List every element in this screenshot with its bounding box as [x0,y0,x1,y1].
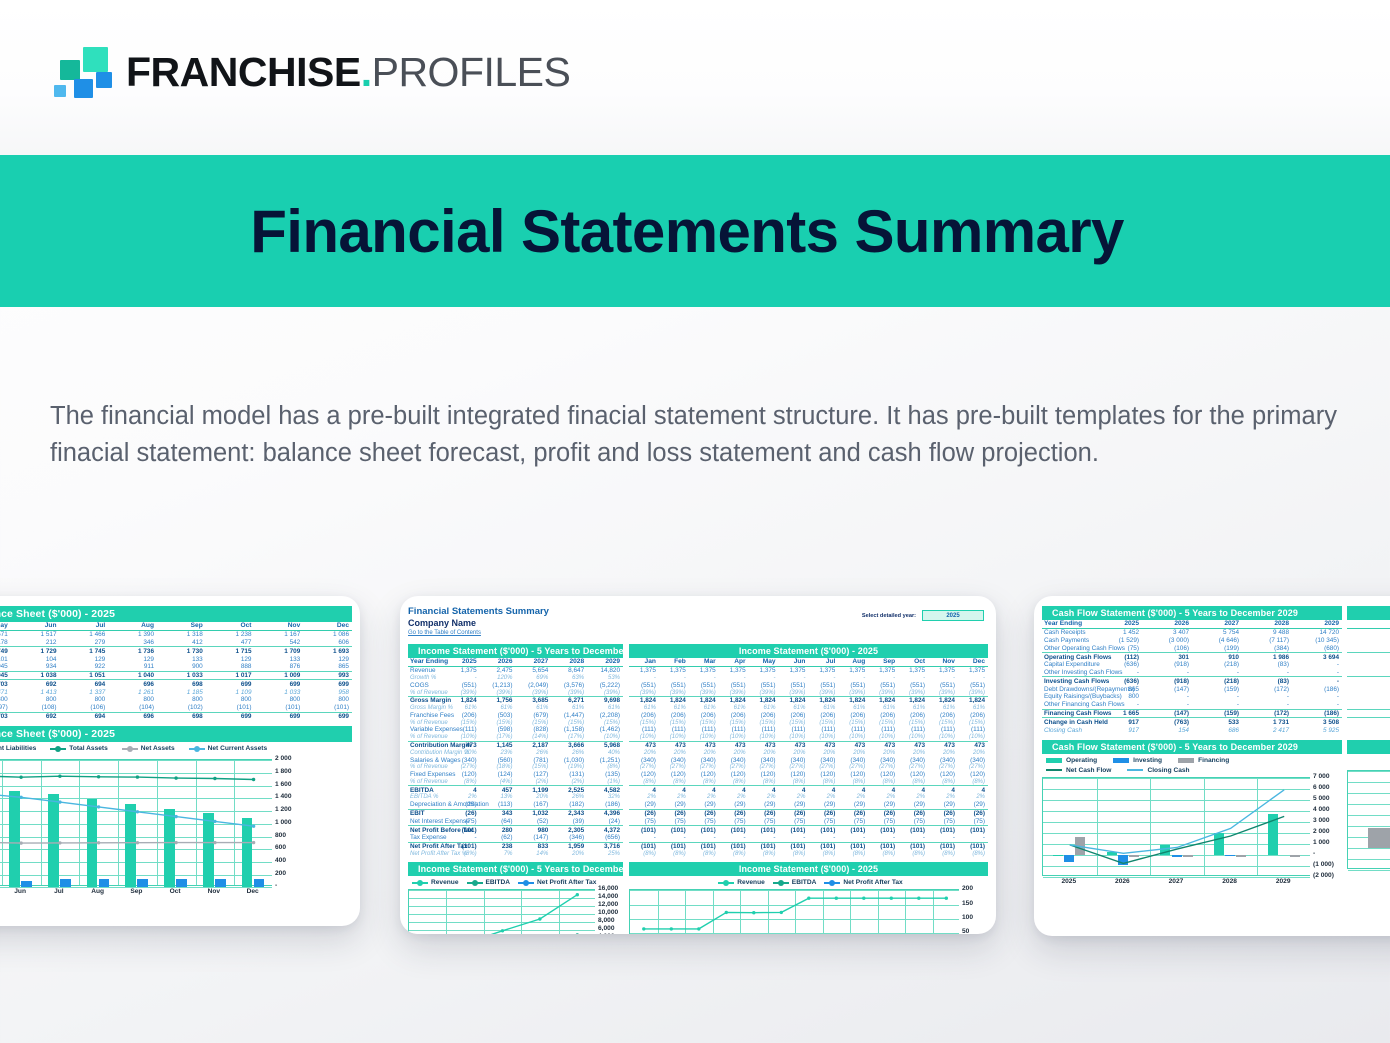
table-cell: 1,824 [958,696,988,704]
table-cell: (8%) [749,851,779,858]
table-cell: 692 [11,680,60,688]
table-cell: 61% [551,705,587,712]
table-cell: (101) [719,826,749,834]
table-cell: 4 [808,786,838,794]
table-row: 1,3751,3751,3751,3751,3751,3751,3751,375… [629,666,988,674]
table-row: EBITDA %2%13%20%26%32% [408,794,623,801]
table-cell: 686 [1192,726,1242,734]
table-cell: (8%) [838,779,868,786]
y-axis-tick: 200 [962,885,981,892]
table-cell: (39%) [868,689,898,696]
table-cell: (106) [60,704,109,712]
table-cell: 61% [808,705,838,712]
table-cell: 1 261 [108,688,157,696]
table-row: 800 [1347,693,1390,701]
table-row: EBIT(26)3431,0322,3434,396 [408,809,623,817]
table-cell: (340) [898,756,928,764]
table-cell: Mar [689,658,719,666]
select-detailed-year-input[interactable]: 2025 [922,610,984,621]
table-cell: 473 [958,741,988,749]
table-cell: (111) [868,726,898,734]
table-cell: Net Profit Before Tax [408,826,444,834]
table-row: (39%)(39%)(39%)(39%)(39%)(39%)(39%)(39%)… [629,689,988,696]
table-row: (8%)(8%)(8%)(8%)(8%)(8%)(8%)(8%)(8%)(8%)… [629,779,988,786]
plot-area [1347,770,1390,869]
table-cell: (679) [515,711,551,719]
table-cell: 1,824 [629,696,659,704]
table-cell: (39%) [689,689,719,696]
table-cell: (8%) [587,764,623,771]
table-of-contents-link[interactable]: Go to the Table of Contents [408,630,988,636]
table-cell: 457 [480,786,516,794]
y-axis-tick: (2 000) [1313,872,1342,879]
table-cell: (27%) [928,764,958,771]
table-cell: (39%) [515,689,551,696]
table-cell: (106) [1142,644,1192,652]
table-cell: 40% [587,749,623,756]
table-cell: (27%) [629,764,659,771]
table-cell: 2 417 [1242,726,1292,734]
table-cell: 2,475 [480,666,516,674]
table-cell: 1,375 [898,666,928,674]
table-cell: (26) [898,809,928,817]
table-cell: - [898,834,928,842]
table-cell: 20% [749,749,779,756]
table-cell: (2%) [515,779,551,786]
table-cell: (551) [808,681,838,689]
chart-lines [409,890,596,934]
table-cell: (39%) [808,689,838,696]
table-cell: (8%) [719,779,749,786]
y-axis-tick: - [1313,850,1342,857]
legend-swatch [412,882,428,884]
table-cell: (127) [515,771,551,779]
table-row: % of Revenue(10%)(17%)(14%)(17%)(10%) [408,734,623,741]
table-cell: 343 [480,809,516,817]
table-cell: 14 720 [1292,628,1342,636]
table-cell: - [659,834,689,842]
table-cell: (8%) [898,779,928,786]
table-cell: (101) [749,842,779,850]
table-row: MayJunJulAugSepOctNovDec [0,622,352,630]
table-cell: 696 [108,680,157,688]
table-cell: Debt Drawdowns/(Repayments) [1042,685,1092,693]
table-cell: (75) [689,817,719,825]
table-cell: - [1347,701,1390,709]
table-cell: (111) [689,726,719,734]
table-cell: 1 337 [60,688,109,696]
table-cell: Nov [928,658,958,666]
table-cell: Capital Expenditure [1042,661,1092,669]
balance-sheet-screenshot-card[interactable]: Balance Sheet ($'000) - 2025 MayJunJulAu… [0,596,360,926]
table-cell: (124) [480,771,516,779]
table-cell: 1,824 [779,696,809,704]
table-cell: Variable Expenses [408,726,444,734]
cash-flow-month-chart-title [1347,740,1390,754]
table-cell: 61% [689,705,719,712]
table-cell: 699 [206,680,255,688]
table-cell: Financing Cash Flows [1042,709,1092,718]
table-cell: 1 185 [157,688,206,696]
table-cell: (120) [958,771,988,779]
y-axis-tick: 2 000 [1313,828,1342,835]
table-cell: 1 033 [255,688,304,696]
income-statement-5yr-block: Income Statement ($'000) - 5 Years to De… [408,644,623,857]
x-axis-tick: 2027 [1149,878,1203,885]
table-cell: Change in Cash Held [1042,718,1092,726]
table-cell: 1 729 [11,647,60,655]
table-cell: (1,251) [587,756,623,764]
table-cell: (206) [659,711,689,719]
table-row: 1 5711 5171 4661 3901 3181 2381 1671 086 [0,630,352,638]
table-row: (47) [1347,637,1390,645]
income-chart-year-block: Income Statement ($'000) - 2025 RevenueE… [629,862,988,934]
table-cell: 2% [868,794,898,801]
table-cell: 800 [1347,693,1390,701]
table-row: Net Profit After Tax(101)2388331,9593,71… [408,842,623,850]
table-cell: (15%) [749,719,779,726]
table-cell: 692 [11,712,60,720]
table-cell: (15%) [838,719,868,726]
table-cell: (218) [1192,661,1242,669]
table-cell: (7) [1347,644,1390,652]
table-cell: 473 [779,741,809,749]
cash-flow-month-table: Jan32(47)(7)(22)(36)-(36)989800-1 7891 7… [1347,620,1390,734]
table-cell: 1,375 [659,666,689,674]
table-cell: (101) [928,842,958,850]
table-row: Investing Cash Flows(636)(918)(218)(83)- [1042,677,1342,685]
table-cell: (680) [1292,644,1342,652]
table-cell: Depreciation & Amortisation [408,801,444,809]
table-cell: (206) [838,711,868,719]
table-cell: Gross Margin % [408,705,444,712]
table-cell: (120) [808,771,838,779]
cash-flow-screenshot-card[interactable]: Cash Flow Statement ($'000) - 5 Years to… [1034,596,1390,936]
table-cell: (26) [719,809,749,817]
table-cell: 5,654 [515,666,551,674]
table-cell: (10%) [749,734,779,741]
table-cell: 1,375 [689,666,719,674]
y-axis-tick: 3 000 [1313,817,1342,824]
table-cell: 698 [157,680,206,688]
table-cell: 2025 [1092,620,1142,628]
table-cell: 20% [659,749,689,756]
table-cell: (17%) [551,734,587,741]
table-cell: (27%) [689,764,719,771]
table-cell: 26% [515,749,551,756]
table-cell: 699 [303,680,352,688]
table-cell: 101 [0,655,11,663]
table-cell: - [779,834,809,842]
table-row: 1 789 [1347,709,1390,718]
table-row: (111)(111)(111)(111)(111)(111)(111)(111)… [629,726,988,734]
table-cell: (7 117) [1242,637,1292,645]
x-axis-tick: 2025 [1042,878,1096,885]
y-axis-tick: 10,000 [598,909,621,916]
table-cell: (340) [928,756,958,764]
table-cell: (551) [749,681,779,689]
table-cell: 699 [255,680,304,688]
table-cell: 4 [749,786,779,794]
table-cell: (75) [779,817,809,825]
select-detailed-year-label: Select detailed year: [862,613,916,619]
table-cell: 1 715 [206,647,255,655]
table-cell: (8%) [629,851,659,858]
table-row: (26)(26)(26)(26)(26)(26)(26)(26)(26)(26)… [629,809,988,817]
table-cell: 61% [779,705,809,712]
table-cell: 3,666 [551,741,587,749]
table-cell: 1 471 [0,688,11,696]
table-cell: (8%) [898,851,928,858]
table-row: (120)(120)(120)(120)(120)(120)(120)(120)… [629,771,988,779]
table-row: Net Profit Before Tax(101)2809802,3054,3… [408,826,623,834]
table-cell: 4 [898,786,928,794]
table-cell: (29) [659,801,689,809]
balance-sheet-chart: 2 0001 8001 6001 4001 2001 0008006004002… [0,759,352,899]
table-cell: (52) [515,817,551,825]
table-cell: (8%) [808,779,838,786]
table-cell: 1 731 [1347,718,1390,726]
table-cell: Jun [11,622,60,630]
table-cell: 1,824 [689,696,719,704]
table-cell: (15%) [659,719,689,726]
legend-swatch [122,748,138,750]
table-cell: (206) [719,711,749,719]
table-cell: 1 086 [303,630,352,638]
legend-item: urrent Liabilities [0,745,36,752]
table-cell: (83) [1242,661,1292,669]
table-cell: - [444,834,480,842]
table-cell: - [689,675,719,682]
table-cell: (10%) [808,734,838,741]
table-row: ------------ [629,675,988,682]
table-cell: EBIT [408,809,444,817]
table-cell: - [1242,693,1292,701]
table-cell: 61% [719,705,749,712]
table-cell: 900 [157,663,206,671]
select-detailed-year-control[interactable]: Select detailed year: 2025 [862,610,984,621]
table-cell: (2%) [551,779,587,786]
table-cell: (15%) [779,719,809,726]
table-cell: (26) [958,809,988,817]
table-cell: 4 [444,786,480,794]
table-cell: 2% [928,794,958,801]
y-axis-tick: 6,000 [598,925,621,932]
table-cell: (29) [898,801,928,809]
financial-summary-screenshot-card[interactable]: Financial Statements Summary Company Nam… [400,596,996,934]
legend-item: EBITDA [773,879,817,886]
y-axis-tick: 7 000 [1313,773,1342,780]
table-cell: EBITDA % [408,794,444,801]
table-cell: 32 [1347,628,1390,636]
table-cell: 696 [108,712,157,720]
income-statement-5yr-title: Income Statement ($'000) - 5 Years to De… [408,644,623,658]
table-cell: 2025 [444,658,480,666]
table-cell: (159) [1192,709,1242,718]
table-cell: 25% [587,851,623,858]
table-cell: 3 508 [1292,718,1342,726]
cash-flow-month-chart: Jan [1347,770,1390,882]
table-cell: (15%) [808,719,838,726]
table-cell: - [749,675,779,682]
table-cell: 129 [108,655,157,663]
table-row: % of Revenue(8%)(4%)(2%)(2%)(1%) [408,779,623,786]
table-cell: (2,049) [515,681,551,689]
table-row: % of Revenue(27%)(18%)(15%)(19%)(8%) [408,764,623,771]
table-cell: (75) [898,817,928,825]
legend-swatch [50,748,66,750]
table-cell: (10%) [779,734,809,741]
table-cell: (75) [749,817,779,825]
table-cell: 279 [60,639,109,647]
table-cell: (22) [1347,653,1390,661]
table-cell: (27%) [659,764,689,771]
table-cell: (8%) [779,779,809,786]
table-row: Other Financing Cash Flows----- [1042,701,1342,709]
y-axis-tick: 400 [275,857,306,864]
table-cell: 32% [587,794,623,801]
y-axis-tick: 100 [962,914,981,921]
table-cell: 4,396 [587,809,623,817]
y-axis-tick: 1 000 [1313,839,1342,846]
table-cell: (27%) [749,764,779,771]
cash-flow-chart-title: Cash Flow Statement ($'000) - 5 Years to… [1042,740,1342,754]
table-cell: (101) [689,842,719,850]
table-cell: (551) [838,681,868,689]
table-cell: (101) [779,842,809,850]
table-cell: (101) [629,826,659,834]
table-cell: (101) [808,826,838,834]
table-cell: - [689,834,719,842]
table-cell: (656) [587,834,623,842]
table-cell: (340) [629,756,659,764]
table-cell: 2,305 [551,826,587,834]
table-cell: (39%) [587,689,623,696]
legend-label: Revenue [737,879,765,886]
table-cell: (120) [838,771,868,779]
table-cell: 3,685 [515,696,551,704]
table-cell: (186) [1292,709,1342,718]
table-cell: Contribution Margin % [408,749,444,756]
table-cell: (111) [808,726,838,734]
table-cell: 800 [0,696,11,704]
table-cell: 212 [11,639,60,647]
x-axis-tick: 2026 [1096,878,1150,885]
table-cell: (29) [719,801,749,809]
table-cell: 1 109 [206,688,255,696]
cash-flow-month-title [1347,606,1390,620]
table-cell: Oct [206,622,255,630]
table-cell: (340) [659,756,689,764]
table-cell: (15%) [480,719,516,726]
table-cell: (101) [928,826,958,834]
table-cell: 61% [480,705,516,712]
table-cell: (101) [629,842,659,850]
plot-area [408,889,595,934]
table-row: Capital Expenditure(636)(918)(218)(83)- [1042,661,1342,669]
cash-flow-chart: 7 0006 0005 0004 0003 0002 0001 000-(1 0… [1042,777,1342,889]
table-cell: 20% [808,749,838,756]
table-cell: 1,959 [551,842,587,850]
table-cell: (111) [779,726,809,734]
table-cell: 61% [515,705,551,712]
legend-label: Net Cash Flow [1066,767,1111,774]
plot-area [629,889,959,934]
table-cell: (26) [629,809,659,817]
table-cell: 61% [749,705,779,712]
table-cell: (8%) [749,779,779,786]
table-cell: (39%) [659,689,689,696]
table-cell: 1,824 [808,696,838,704]
table-cell: (10%) [689,734,719,741]
page-title: Financial Statements Summary [0,197,1390,266]
table-cell: 1,375 [868,666,898,674]
table-cell: Apr [719,658,749,666]
table-cell: (340) [749,756,779,764]
table-cell: (101) [868,842,898,850]
table-cell: (10%) [838,734,868,741]
table-cell: 4,372 [587,826,623,834]
table-cell: (101) [659,826,689,834]
table-cell: 833 [515,842,551,850]
table-cell: (8%) [928,851,958,858]
table-cell: (27%) [898,764,928,771]
table-row: Other Investing Cash Flows----- [1042,669,1342,677]
table-row: (10%)(10%)(10%)(10%)(10%)(10%)(10%)(10%)… [629,734,988,741]
table-cell: Dec [303,622,352,630]
legend-row: Net Cash FlowClosing Cash [1042,767,1342,777]
table-cell: (111) [898,726,928,734]
table-cell: Jan [1347,620,1390,628]
table-cell: 2,343 [551,809,587,817]
table-cell: Cash Receipts [1042,628,1092,636]
table-cell: (26) [779,809,809,817]
legend-label: EBITDA [792,879,817,886]
table-cell: - [779,675,809,682]
y-axis-tick: 50 [962,928,981,934]
legend-item: Net Profit After Tax [824,879,902,886]
y-axis-tick: 1 000 [275,819,306,826]
table-cell: (26) [808,809,838,817]
brand-wordmark: FRANCHISE.PROFILES [126,52,570,93]
table-cell: 2028 [551,658,587,666]
legend-swatch [1178,758,1194,763]
table-cell: 699 [255,712,304,720]
table-cell: Jan [629,658,659,666]
balance-sheet-chart-title: Balance Sheet ($'000) - 2025 [0,726,352,742]
table-cell: (120) [689,771,719,779]
table-cell: 934 [11,663,60,671]
table-cell: (503) [480,711,516,719]
table-cell: - [838,834,868,842]
table-cell: (102) [157,704,206,712]
table-cell: (101) [689,826,719,834]
table-cell: 473 [689,741,719,749]
table-cell: (551) [719,681,749,689]
table-cell: 1,032 [515,809,551,817]
table-cell: (47) [1347,637,1390,645]
table-cell: 2% [444,794,480,801]
table-row: (36) [1347,677,1390,685]
table-row: Franchise Fees(206)(503)(679)(1,447)(2,2… [408,711,623,719]
table-row: Debt Drawdowns/(Repayments)865(147)(159)… [1042,685,1342,693]
table-cell: (918) [1142,661,1192,669]
table-cell: (29) [868,801,898,809]
table-cell: (27%) [444,764,480,771]
table-cell: 473 [898,741,928,749]
table-cell: May [749,658,779,666]
table-cell: (551) [958,681,988,689]
